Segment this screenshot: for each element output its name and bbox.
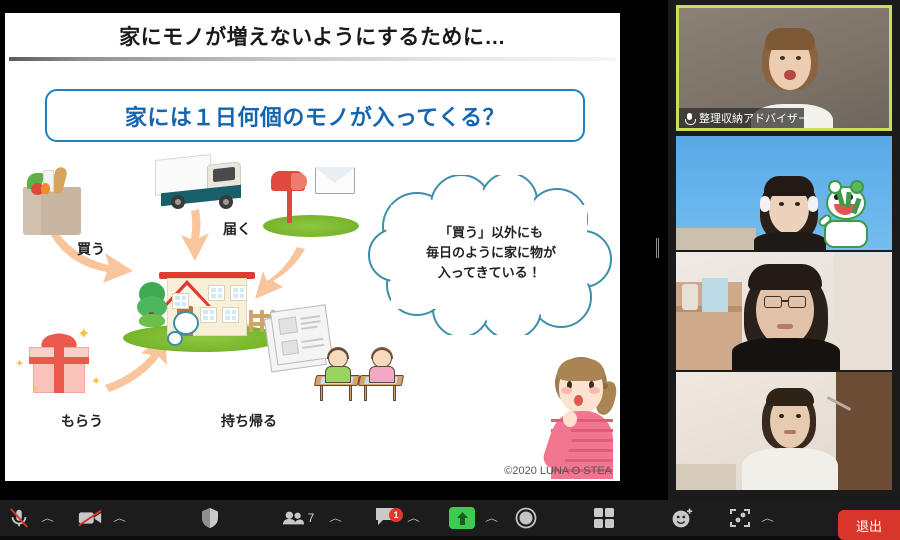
video-tile-2[interactable]: [676, 136, 892, 250]
view-button[interactable]: [586, 500, 622, 536]
sparkle-icon: ✦: [15, 359, 24, 370]
participants-options-caret[interactable]: ︿: [326, 500, 346, 536]
slide-question-text: 家には１日何個のモノが入ってくる？: [125, 100, 505, 132]
screen-share-area[interactable]: 家にモノが増えないようにするために… 家には１日何個のモノが入ってくる？: [0, 0, 668, 500]
stop-video-button[interactable]: [70, 500, 110, 536]
slide-title: 家にモノが増えないようにするために…: [5, 13, 620, 58]
sparkle-icon: ✦: [31, 385, 39, 394]
breakout-rooms-icon: [729, 507, 751, 529]
diagram-label-buy: 買う: [77, 239, 105, 259]
panel-resize-handle[interactable]: [656, 238, 659, 258]
video-tile-3[interactable]: [676, 252, 892, 370]
girl-thinking-illustration: [545, 353, 620, 478]
meeting-stage: 家にモノが増えないようにするために… 家には１日何個のモノが入ってくる？: [0, 0, 900, 500]
diagram-label-receive: もらう: [61, 411, 103, 431]
security-button[interactable]: [192, 500, 228, 536]
chevron-up-icon: ︿: [408, 514, 421, 523]
sparkle-icon: ✦: [91, 375, 101, 387]
video-tile-1[interactable]: 整理収納アドバイザー: [676, 5, 892, 131]
slide-question-box: 家には１日何個のモノが入ってくる？: [45, 89, 585, 142]
delivery-truck-icon: [155, 153, 245, 215]
video-camera-muted-icon: [77, 507, 103, 529]
mute-button[interactable]: [2, 500, 36, 536]
bubble-line-2: 毎日のように家に物が: [393, 243, 589, 263]
chat-button[interactable]: 1: [368, 500, 402, 536]
chevron-up-icon: ︿: [114, 514, 127, 523]
chat-unread-badge: 1: [389, 508, 403, 522]
breakout-options-caret[interactable]: ︿: [758, 500, 778, 536]
share-up-arrow-icon: [456, 511, 469, 526]
thought-bubble: 「買う」以外にも 毎日のように家に物が 入ってきている ！: [365, 175, 615, 335]
grid-view-icon: [593, 507, 615, 529]
house-illustration: [123, 258, 283, 358]
video-tile-4[interactable]: [676, 372, 892, 490]
leave-meeting-label: 退出: [856, 516, 882, 535]
participants-button[interactable]: 7: [272, 500, 324, 536]
grocery-bag-icon: [23, 167, 81, 235]
thought-bubble-tail-small: [167, 331, 183, 346]
video-tile-1-name: 整理収納アドバイザー: [699, 110, 809, 126]
share-options-caret[interactable]: ︿: [482, 500, 502, 536]
bubble-line-1: 「買う」以外にも: [393, 223, 589, 243]
kids-at-desks-icon: [315, 349, 407, 407]
bubble-line-3: 入ってきている ！: [393, 263, 589, 283]
reactions-smiley-icon: [671, 507, 694, 529]
video-options-caret[interactable]: ︿: [110, 500, 130, 536]
chat-options-caret[interactable]: ︿: [404, 500, 424, 536]
mute-options-caret[interactable]: ︿: [38, 500, 58, 536]
diagram-label-deliver: 届く: [223, 219, 251, 239]
breakout-rooms-button[interactable]: [722, 500, 758, 536]
mailbox-icon: [263, 167, 359, 239]
chevron-up-icon: ︿: [762, 514, 775, 523]
shield-icon: [200, 507, 220, 529]
slide-title-divider: [9, 57, 616, 61]
sparkle-icon: ✦: [77, 327, 90, 343]
record-circle-icon: [515, 507, 537, 529]
diagram-label-bring-home: 持ち帰る: [221, 411, 277, 431]
chevron-up-icon: ︿: [42, 514, 55, 523]
meeting-toolbar: ︿ ︿ 7 ︿ 1: [0, 500, 900, 536]
presentation-slide: 家にモノが増えないようにするために… 家には１日何個のモノが入ってくる？: [5, 13, 620, 481]
video-tile-1-namebar: 整理収納アドバイザー: [679, 108, 804, 128]
video-gallery-strip: 整理収納アドバイザー: [668, 0, 900, 500]
thought-bubble-text: 「買う」以外にも 毎日のように家に物が 入ってきている ！: [393, 223, 589, 283]
mic-icon: [685, 113, 694, 124]
participants-count: 7: [308, 511, 315, 525]
slide-copyright: ©2020 LUNA O STEA: [504, 465, 612, 477]
slide-diagram: 買う 届く: [5, 153, 620, 481]
reactions-button[interactable]: [664, 500, 700, 536]
envelope-icon: [315, 167, 355, 194]
share-screen-button[interactable]: [442, 500, 482, 536]
microphone-muted-icon: [8, 507, 30, 529]
record-button[interactable]: [508, 500, 544, 536]
chevron-up-icon: ︿: [330, 514, 343, 523]
chevron-up-icon: ︿: [486, 514, 499, 523]
participants-icon: [282, 510, 304, 526]
